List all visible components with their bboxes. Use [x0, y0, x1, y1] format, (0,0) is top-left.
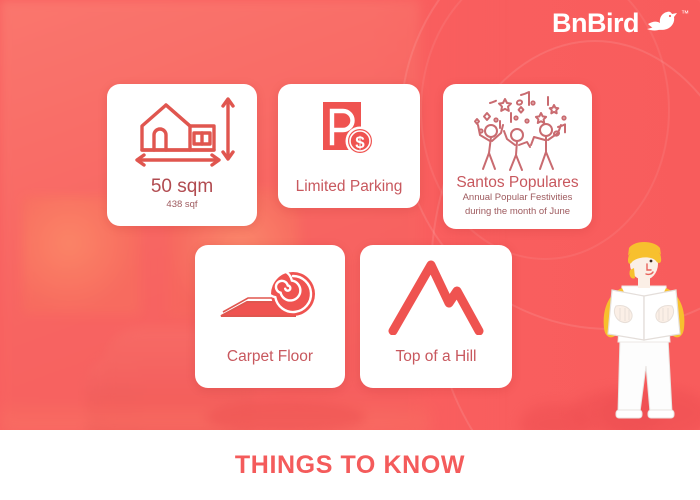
card-parking[interactable]: $ Limited Parking — [278, 84, 420, 208]
mountain-peak-icon — [360, 245, 512, 348]
card-santos[interactable]: Santos Populares Annual Popular Festivit… — [443, 84, 592, 229]
house-dimensions-icon — [107, 84, 257, 176]
card-carpet[interactable]: Carpet Floor — [195, 245, 345, 388]
card-santos-label: Santos Populares — [443, 174, 592, 192]
card-carpet-label: Carpet Floor — [195, 348, 345, 366]
card-sqm-label: 50 sqm — [107, 176, 257, 198]
hero-banner: BnBird ™ — [0, 0, 700, 430]
brand-name: BnBird — [552, 10, 639, 37]
card-santos-sublabel-line2: during the month of June — [465, 206, 570, 219]
card-sqm-sublabel: 438 sqf — [166, 199, 197, 212]
svg-text:$: $ — [355, 133, 365, 152]
card-hill[interactable]: Top of a Hill — [360, 245, 512, 388]
card-santos-sublabel-line1: Annual Popular Festivities — [463, 192, 573, 205]
footer-title: THINGS TO KNOW — [235, 451, 465, 480]
carpet-roll-icon — [195, 245, 345, 348]
parking-paid-icon: $ — [278, 84, 420, 178]
card-sqm[interactable]: 50 sqm 438 sqf — [107, 84, 257, 226]
card-parking-label: Limited Parking — [278, 178, 420, 196]
bird-icon — [646, 8, 680, 34]
card-hill-label: Top of a Hill — [360, 348, 512, 366]
footer-bar: THINGS TO KNOW — [0, 430, 700, 500]
photo-rug — [206, 400, 366, 430]
person-reading-book-illustration — [590, 234, 698, 430]
screenshot-root: BnBird ™ — [0, 0, 700, 500]
dancing-people-icon — [443, 84, 592, 174]
brand-logo[interactable]: BnBird ™ — [552, 10, 680, 37]
trademark-symbol: ™ — [681, 9, 689, 18]
